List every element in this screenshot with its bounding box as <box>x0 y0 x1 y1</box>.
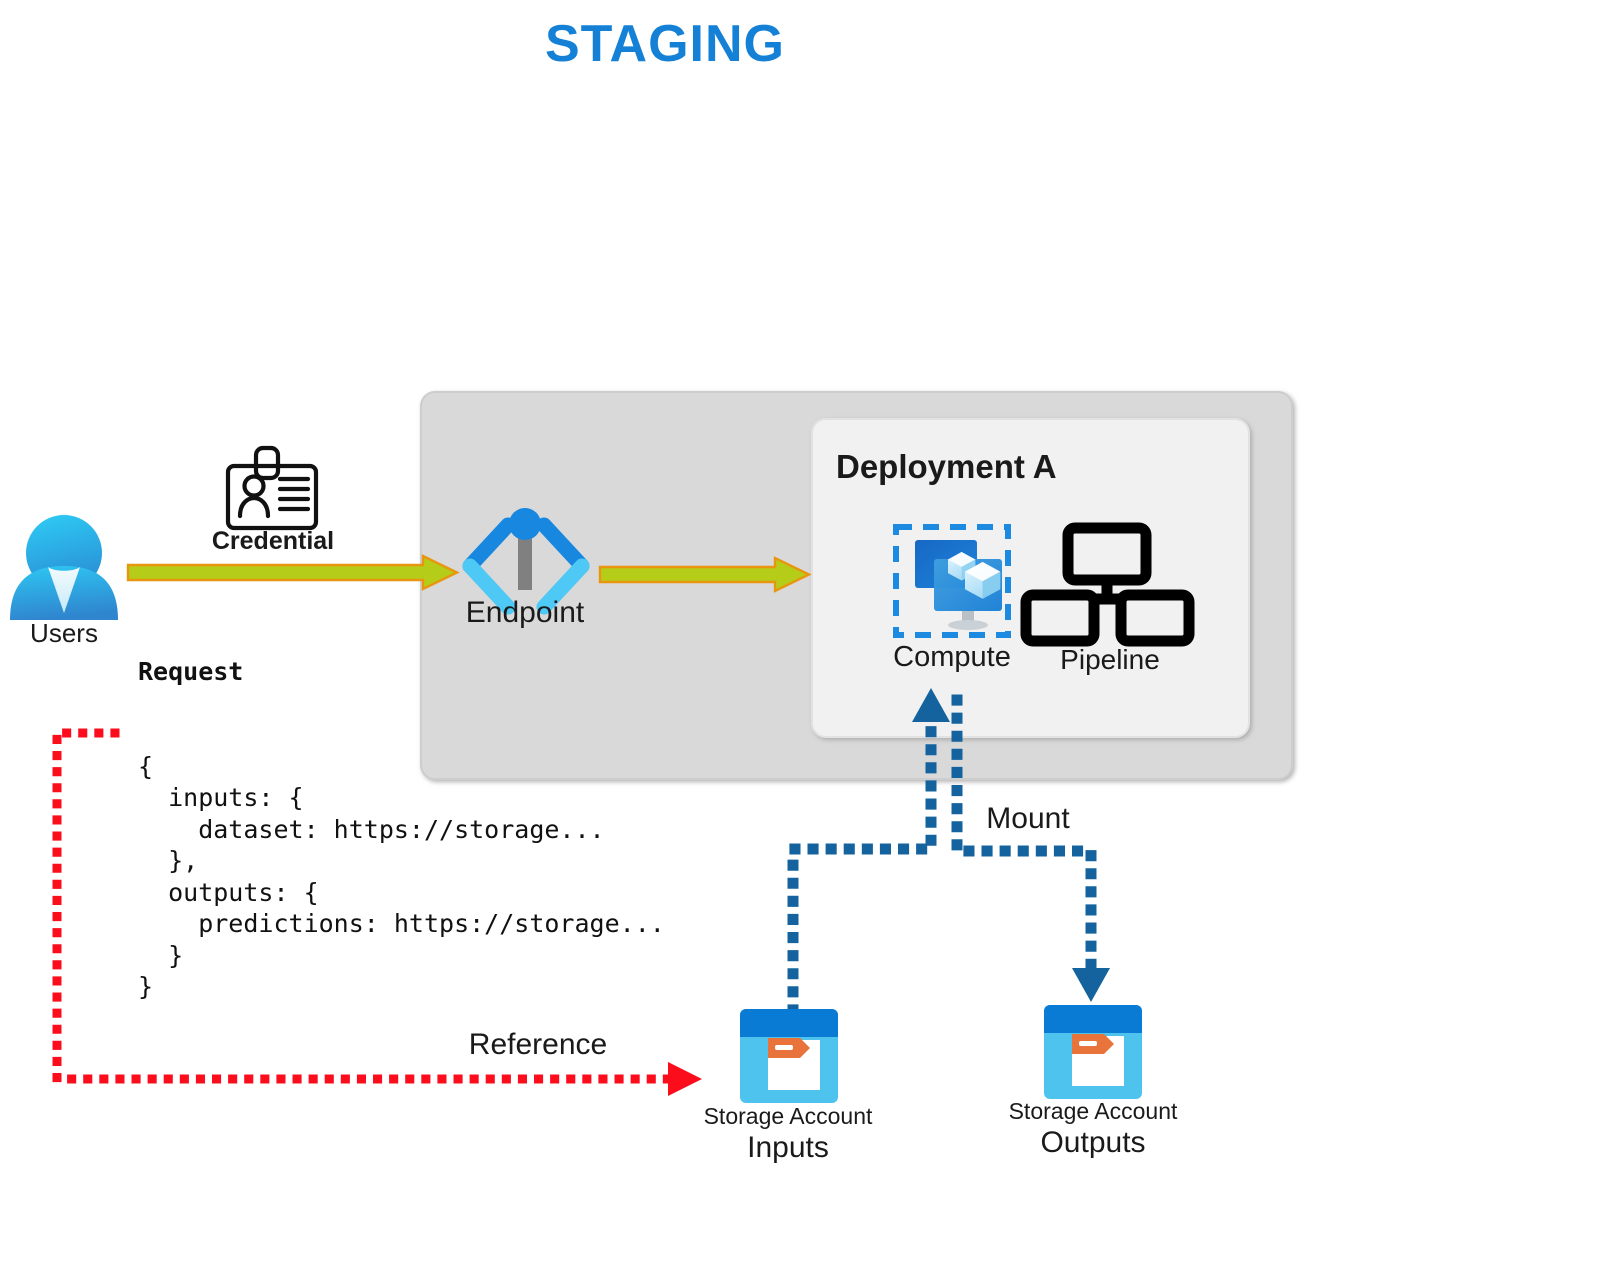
request-arrow-1 <box>128 556 457 589</box>
user-avatar-icon <box>10 515 118 620</box>
request-payload-block: Request { inputs: { dataset: https://sto… <box>138 593 665 1066</box>
storage-outputs-kind-label: Storage Account <box>965 1098 1221 1125</box>
request-edge-label: Request <box>138 656 665 688</box>
users-label: Users <box>0 618 128 649</box>
storage-inputs-name-label: Inputs <box>660 1131 916 1165</box>
request-payload-json: { inputs: { dataset: https://storage... … <box>138 751 665 1003</box>
deployment-a-title: Deployment A <box>836 448 1057 486</box>
diagram-canvas: STAGING <box>0 0 1607 1287</box>
mount-edge-label: Mount <box>940 802 1116 836</box>
storage-inputs-kind-label: Storage Account <box>660 1103 916 1130</box>
storage-outputs-name-label: Outputs <box>965 1126 1221 1160</box>
storage-account-inputs-icon[interactable] <box>740 1009 838 1103</box>
storage-account-outputs-icon[interactable] <box>1044 1005 1142 1099</box>
pipeline-label: Pipeline <box>1030 644 1190 676</box>
id-badge-icon <box>228 448 316 528</box>
credential-label: Credential <box>180 527 366 556</box>
compute-label: Compute <box>868 641 1036 674</box>
